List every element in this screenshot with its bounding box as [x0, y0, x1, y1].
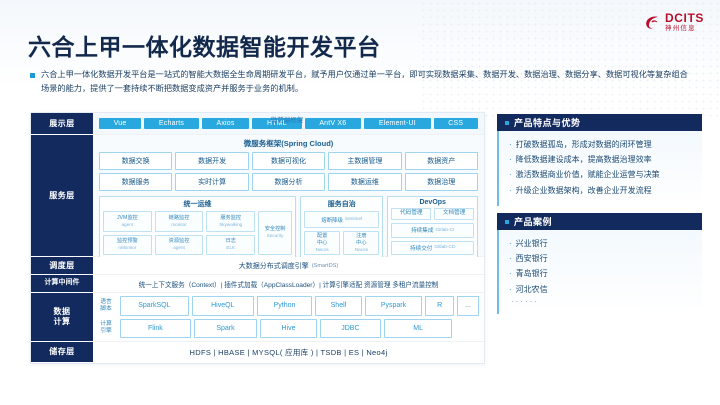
service-module-master-data-mgmt[interactable]: 主数据管理 [328, 152, 401, 170]
ops-cell-alert[interactable]: 监控预警 nMonitor [103, 235, 152, 256]
ops-cell-trace-monitor[interactable]: 链路监控 monitor [155, 211, 204, 232]
compute-engine-spark[interactable]: Spark [194, 319, 258, 339]
page-title: 六合上甲一体化数据智能开发平台 [28, 28, 381, 62]
service-module-data-exchange[interactable]: 数据交换 [99, 152, 172, 170]
autonomy-config-center-en: Nacos [316, 247, 329, 253]
case-item-2-text: 西安银行 [516, 251, 548, 266]
autonomy-registry-center-cn: 注册中心 [356, 233, 366, 247]
service-module-data-analysis[interactable]: 数据分析 [252, 173, 325, 191]
compute-script-python[interactable]: Python [257, 296, 312, 316]
schedule-layer-row: 大数据分布式调度引擎 (SmartDS) [93, 257, 484, 275]
layer-label-presentation: 展示层 [31, 113, 93, 135]
panel-advantages-title: 产品特点与优势 [514, 116, 581, 129]
ops-cell-jvm-monitor-cn: JVM监控 [117, 215, 138, 222]
layer-label-schedule: 调度层 [31, 257, 93, 275]
advantage-item-3: · 激活数据商业价值，赋能企业运营与决策 [509, 167, 694, 182]
devops-cell-cd[interactable]: 持续交付 Gitlab-CD [391, 241, 474, 255]
devops-title: DevOps [391, 199, 474, 206]
schedule-engine-code: (SmartDS) [312, 263, 338, 269]
compute-engine-ml[interactable]: ML [384, 319, 452, 339]
ops-cell-alert-cn: 监控预警 [117, 238, 138, 245]
layer-label-compute-line2: 计算 [54, 317, 71, 326]
compute-label-engine-line2: 引擎 [100, 328, 112, 335]
advantage-item-1-text: 打破数据孤岛，形成对数据的闭环管理 [516, 137, 652, 152]
ops-cell-service-monitor[interactable]: 服务监控 Skywalking [206, 211, 255, 232]
panel-cases-header: 产品案例 [497, 213, 702, 230]
service-autonomy-panel: 服务自治 熔断降级 Sentinel 配置中心 Nacos [300, 196, 383, 258]
service-module-realtime-compute[interactable]: 实时计算 [175, 173, 248, 191]
case-item-4: · 河北农信 [509, 282, 694, 297]
devops-cell-doc-mgmt[interactable]: 文档管理 [434, 208, 474, 220]
square-bullet-icon [505, 121, 509, 125]
ops-cell-trace-monitor-en: monitor [171, 222, 186, 228]
case-item-1: · 兴业银行 [509, 236, 694, 251]
ops-cell-logging-en: ELK [226, 245, 235, 251]
ops-cell-alert-en: nMonitor [118, 245, 136, 251]
service-module-data-service[interactable]: 数据服务 [99, 173, 172, 191]
case-list-ellipsis: ······ [509, 297, 694, 306]
devops-cd-cn: 持续交付 [410, 244, 432, 252]
compute-script-r[interactable]: R [425, 296, 454, 316]
square-bullet-icon [505, 220, 509, 224]
compute-script-sparksql[interactable]: SparkSQL [120, 296, 189, 316]
bullet-square-icon [30, 73, 35, 78]
ops-cell-security-cn: 安全控制 [265, 226, 286, 233]
panel-advantages-body: · 打破数据孤岛，形成对数据的闭环管理 · 降低数据建设成本，提高数据治理效率 … [497, 131, 702, 206]
case-item-1-text: 兴业银行 [516, 236, 548, 251]
devops-panel: DevOps 代码管理 文档管理 持续集成 Gitlab-CI [387, 196, 478, 258]
service-layer-row: 微服务框架(Spring Cloud) 数据交换 数据开发 数据可视化 主数据管… [93, 135, 484, 257]
unified-ops-title: 统一运维 [103, 199, 292, 209]
compute-script-pyspark[interactable]: Pyspark [365, 296, 423, 316]
advantage-item-2-text: 降低数据建设成本，提高数据治理效率 [516, 152, 652, 167]
unified-ops-panel: 统一运维 JVM监控 agent 链路监控 monitor [99, 196, 296, 258]
brand-name: DCITS [665, 12, 704, 24]
middleware-layer-row: 统一上下文服务（Context）| 插件式加载（AppClassLoader）|… [93, 275, 484, 293]
brand-logo: DCITS 神州信息 [644, 12, 704, 32]
autonomy-cell-registry-center[interactable]: 注册中心 Nacos [343, 231, 379, 255]
case-item-4-text: 河北农信 [516, 282, 548, 297]
compute-script-row: SparkSQL HiveQL Python Shell Pyspark R .… [120, 296, 479, 316]
compute-layer-row: 语言 脚本 计算 引擎 SparkSQL HiveQL Python Shell… [93, 293, 484, 342]
panel-cases-title: 产品案例 [514, 215, 552, 228]
dot-bullet-icon: · [509, 137, 512, 152]
ops-cell-logging-cn: 日志 [226, 238, 236, 245]
devops-ci-cn: 持续集成 [411, 226, 433, 234]
dot-bullet-icon: · [509, 251, 512, 266]
microservice-framework-title: 微服务框架(Spring Cloud) [99, 138, 478, 149]
micro-frontend-caption: 微前端框架 [92, 114, 482, 124]
ops-cell-resource-monitor-en: agent [173, 245, 185, 251]
slide-canvas: DCITS 神州信息 六合上甲一体化数据智能开发平台 六合上甲一体化数据开发平台… [0, 0, 720, 405]
ops-cell-security[interactable]: 安全控制 Security [258, 211, 292, 255]
dot-bullet-icon: · [509, 236, 512, 251]
autonomy-circuit-breaker-en: Sentinel [345, 217, 362, 222]
dot-bullet-icon: · [509, 167, 512, 182]
autonomy-registry-center-en: Nacos [355, 247, 368, 253]
devops-cell-code-mgmt[interactable]: 代码管理 [391, 208, 431, 220]
advantage-item-2: · 降低数据建设成本，提高数据治理效率 [509, 152, 694, 167]
layer-label-middleware: 计算中间件 [31, 275, 93, 293]
compute-label-script: 语言 脚本 [95, 296, 117, 316]
panel-product-cases: 产品案例 · 兴业银行 · 西安银行 · 青岛银行 · 河北农信 ······ [497, 213, 702, 314]
brand-name-cn: 神州信息 [665, 26, 704, 33]
compute-script-more[interactable]: ... [457, 296, 479, 316]
devops-ci-en: Gitlab-CI [435, 228, 454, 233]
ops-cell-security-en: Security [267, 233, 284, 239]
advantage-item-4-text: 升级企业数据架构，改善企业开发流程 [516, 183, 652, 198]
panel-advantages-header: 产品特点与优势 [497, 114, 702, 131]
case-item-3-text: 青岛银行 [516, 266, 548, 281]
intro-text: 六合上甲一体化数据开发平台是一站式的智能大数据全生命周期研发平台，赋予用户仅通过… [41, 68, 690, 97]
compute-engine-jdbc[interactable]: JDBC [320, 319, 381, 339]
schedule-engine-name: 大数据分布式调度引擎 [239, 261, 309, 271]
advantage-item-3-text: 激活数据商业价值，赋能企业运营与决策 [516, 167, 660, 182]
architecture-diagram: 展示层 服务层 调度层 计算中间件 数据 计算 储存层 Vue Echarts … [30, 112, 485, 364]
service-module-data-governance[interactable]: 数据治理 [405, 173, 478, 191]
compute-label-engine: 计算 引擎 [95, 319, 117, 339]
layer-label-column: 展示层 服务层 调度层 计算中间件 数据 计算 储存层 [31, 113, 93, 363]
dot-bullet-icon: · [509, 152, 512, 167]
layer-label-service: 服务层 [31, 135, 93, 257]
dcits-swoosh-logo-icon [644, 14, 661, 31]
autonomy-config-center-cn: 配置中心 [317, 233, 327, 247]
service-module-data-development[interactable]: 数据开发 [175, 152, 248, 170]
ops-cell-logging[interactable]: 日志 ELK [206, 235, 255, 256]
autonomy-cell-config-center[interactable]: 配置中心 Nacos [304, 231, 340, 255]
case-item-2: · 西安银行 [509, 251, 694, 266]
service-module-data-ops[interactable]: 数据运维 [328, 173, 401, 191]
ops-cell-service-monitor-en: Skywalking [219, 222, 242, 228]
case-item-3: · 青岛银行 [509, 266, 694, 281]
dot-bullet-icon: · [509, 282, 512, 297]
devops-cd-en: Gitlab-CD [434, 245, 455, 250]
ops-cell-trace-monitor-cn: 链路监控 [169, 215, 190, 222]
compute-engine-hive[interactable]: Hive [260, 319, 316, 339]
devops-cell-ci[interactable]: 持续集成 Gitlab-CI [391, 223, 474, 237]
ops-cell-jvm-monitor-en: agent [122, 222, 134, 228]
service-autonomy-title: 服务自治 [304, 199, 379, 209]
autonomy-cell-circuit-breaker[interactable]: 熔断降级 Sentinel [304, 211, 379, 228]
ops-cell-resource-monitor-cn: 资源监控 [169, 238, 190, 245]
ops-cell-jvm-monitor[interactable]: JVM监控 agent [103, 211, 152, 232]
dot-bullet-icon: · [509, 183, 512, 198]
compute-label-script-line1: 语言 [100, 299, 112, 306]
storage-layer-row: HDFS | HBASE | MYSQL( 应用库 ) | TSDB | ES … [93, 342, 484, 363]
ops-cell-resource-monitor[interactable]: 资源监控 agent [155, 235, 204, 256]
advantage-item-4: · 升级企业数据架构，改善企业开发流程 [509, 183, 694, 198]
panel-product-advantages: 产品特点与优势 · 打破数据孤岛，形成对数据的闭环管理 · 降低数据建设成本，提… [497, 114, 702, 206]
panel-cases-body: · 兴业银行 · 西安银行 · 青岛银行 · 河北农信 ······ [497, 230, 702, 314]
ops-cell-service-monitor-cn: 服务监控 [220, 215, 241, 222]
autonomy-circuit-breaker-cn: 熔断降级 [321, 216, 343, 224]
service-module-data-asset[interactable]: 数据资产 [405, 152, 478, 170]
dot-bullet-icon: · [509, 266, 512, 281]
service-module-grid: 数据交换 数据开发 数据可视化 主数据管理 数据资产 数据服务 实时计算 数据分… [99, 152, 478, 191]
compute-script-hiveql[interactable]: HiveQL [192, 296, 254, 316]
compute-label-script-line2: 脚本 [100, 306, 112, 313]
service-module-data-visualization[interactable]: 数据可视化 [252, 152, 325, 170]
compute-engine-row: Flink Spark Hive JDBC ML [120, 319, 479, 339]
middleware-text: 统一上下文服务（Context）| 插件式加载（AppClassLoader）|… [139, 279, 439, 289]
layer-label-compute: 数据 计算 [31, 293, 93, 342]
layer-label-compute-line1: 数据 [54, 307, 71, 316]
advantage-item-1: · 打破数据孤岛，形成对数据的闭环管理 [509, 137, 694, 152]
layer-label-storage: 储存层 [31, 342, 93, 363]
intro-paragraph: 六合上甲一体化数据开发平台是一站式的智能大数据全生命周期研发平台，赋予用户仅通过… [30, 68, 690, 97]
compute-script-shell[interactable]: Shell [315, 296, 361, 316]
compute-engine-flink[interactable]: Flink [120, 319, 191, 339]
